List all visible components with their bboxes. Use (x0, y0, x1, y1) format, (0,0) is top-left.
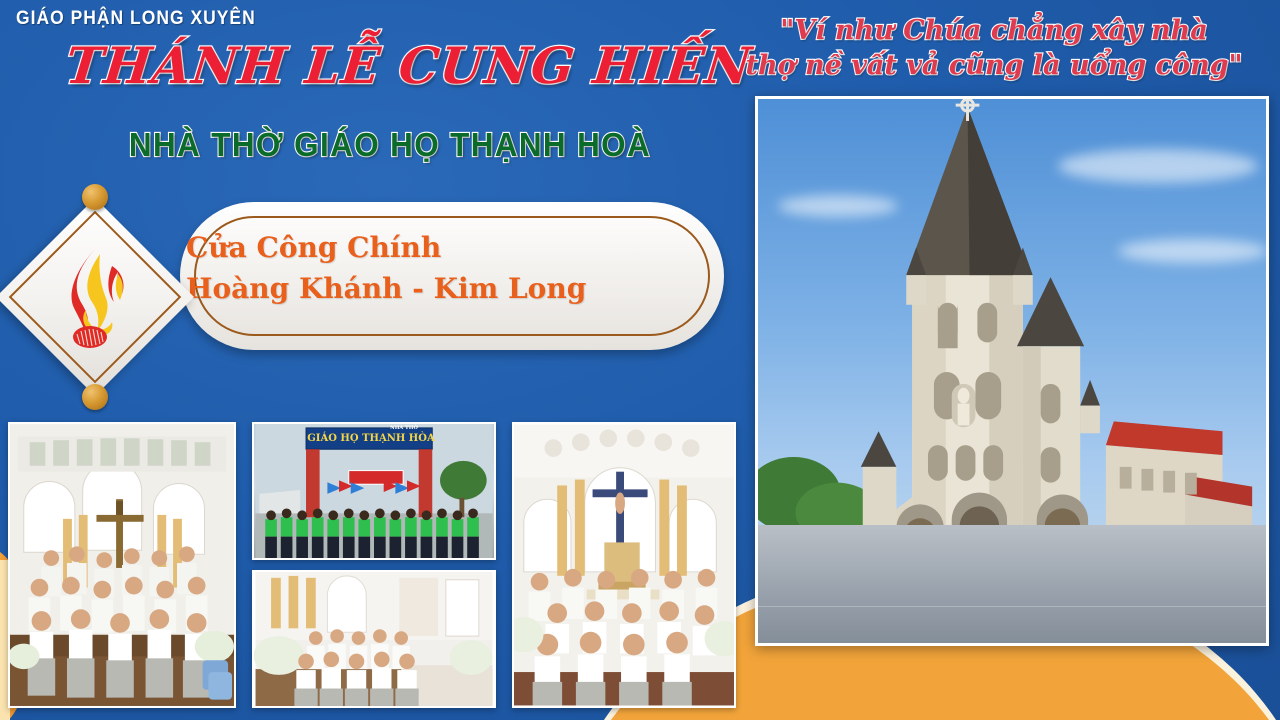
quote-line-1: "Ví như Chúa chẳng xây nhà (716, 14, 1272, 49)
photo-outdoor-gate-group: GIÁO HỌ THẠNH HÒA NHÀ THỜ (252, 422, 496, 560)
church-exterior-render (755, 96, 1269, 646)
poster-canvas: GIÁO PHẬN LONG XUYÊN THÁNH LỄ CUNG HIẾN … (0, 0, 1280, 720)
photo-interior-group-seated (252, 570, 496, 708)
page-subtitle: NHÀ THỜ GIÁO HỌ THẠNH HOÀ (77, 126, 704, 164)
gate-banner-line-2: GIÁO HỌ THẠNH HÒA (306, 433, 436, 444)
scripture-quote: "Ví như Chúa chẳng xây nhà thợ nề vất vả… (716, 14, 1272, 83)
church-plaza (758, 525, 1266, 643)
plaque-text: Cửa Công Chính Hoàng Khánh - Kim Long (186, 228, 616, 309)
logo-sphere-top (82, 184, 108, 210)
flame-icon (56, 244, 134, 352)
gate-banner-line-1: NHÀ THỜ (372, 425, 436, 431)
logo-sphere-bottom (82, 384, 108, 410)
plaque-line-2: Hoàng Khánh - Kim Long (186, 269, 616, 310)
diocese-logo (0, 188, 204, 406)
photo-collage: GIÁO HỌ THẠNH HÒA NHÀ THỜ (6, 418, 736, 708)
diocese-label: GIÁO PHẬN LONG XUYÊN (16, 8, 256, 30)
photo-interior-group-left (8, 422, 236, 708)
church-photo-inner (758, 99, 1266, 643)
quote-line-2: thợ nề vất vả cũng là uổng công" (716, 49, 1272, 84)
plaque-line-1: Cửa Công Chính (186, 228, 616, 269)
photo-interior-group-right (512, 422, 736, 708)
page-title: THÁNH LỄ CUNG HIẾN (63, 36, 729, 95)
